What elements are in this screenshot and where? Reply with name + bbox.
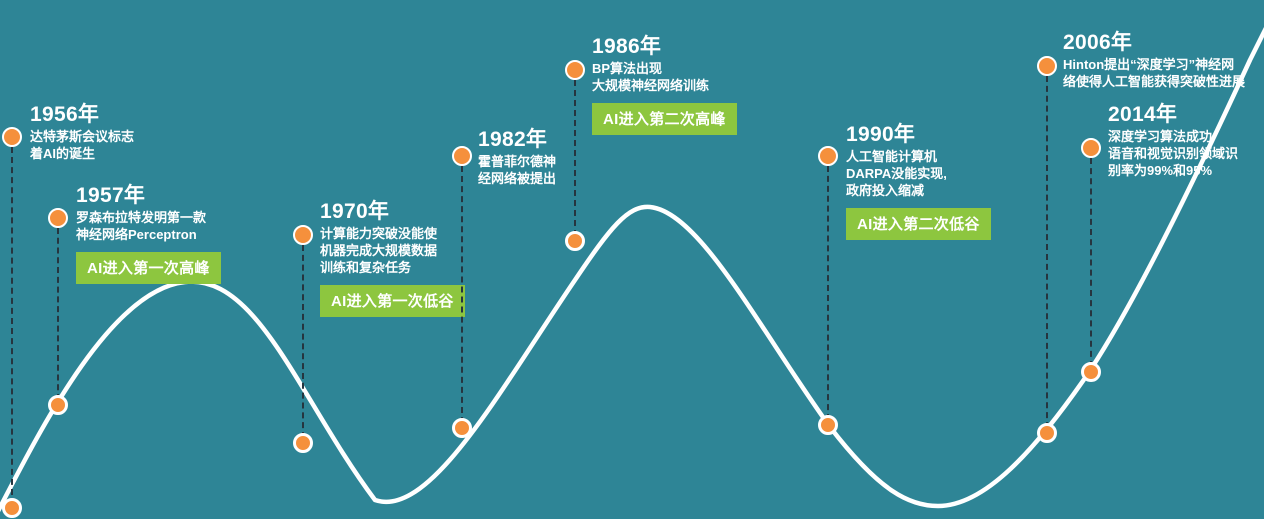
event-year: 1982年 bbox=[478, 128, 556, 152]
event-description-line: 罗森布拉特发明第一款 bbox=[76, 209, 221, 226]
label-marker-dot[interactable] bbox=[48, 208, 68, 228]
event-description-line: 大规模神经网络训练 bbox=[592, 77, 737, 94]
event-phase-badge: AI进入第二次高峰 bbox=[592, 103, 737, 135]
event-label-1957: 1957年罗森布拉特发明第一款神经网络PerceptronAI进入第一次高峰 bbox=[76, 184, 221, 284]
label-marker-dot[interactable] bbox=[565, 60, 585, 80]
event-phase-badge: AI进入第一次高峰 bbox=[76, 252, 221, 284]
event-year: 1970年 bbox=[320, 200, 465, 224]
event-description-line: 深度学习算法成功 bbox=[1108, 128, 1238, 145]
event-description-line: 训练和复杂任务 bbox=[320, 259, 465, 276]
label-marker-dot[interactable] bbox=[293, 225, 313, 245]
event-description-line: Hinton提出“深度学习”神经网 bbox=[1063, 56, 1245, 73]
event-connector-line bbox=[1090, 158, 1092, 367]
event-description-line: 计算能力突破没能使 bbox=[320, 225, 465, 242]
event-connector-line bbox=[461, 166, 463, 423]
label-marker-dot[interactable] bbox=[452, 146, 472, 166]
event-description-line: DARPA没能实现, bbox=[846, 165, 991, 182]
event-description: 人工智能计算机DARPA没能实现,政府投入缩减 bbox=[846, 148, 991, 200]
event-label-1956: 1956年达特茅斯会议标志着AI的诞生 bbox=[30, 103, 134, 162]
event-year: 2006年 bbox=[1063, 31, 1245, 55]
curve-marker-dot[interactable] bbox=[293, 433, 313, 453]
event-description-line: 机器完成大规模数据 bbox=[320, 242, 465, 259]
event-year: 1990年 bbox=[846, 123, 991, 147]
curve-marker-dot[interactable] bbox=[1081, 362, 1101, 382]
event-connector-line bbox=[57, 228, 59, 400]
event-label-1990: 1990年人工智能计算机DARPA没能实现,政府投入缩减AI进入第二次低谷 bbox=[846, 123, 991, 240]
event-description-line: 着AI的诞生 bbox=[30, 145, 134, 162]
event-description: Hinton提出“深度学习”神经网络使得人工智能获得突破性进展 bbox=[1063, 56, 1245, 91]
event-description-line: 政府投入缩减 bbox=[846, 182, 991, 199]
event-label-1970: 1970年计算能力突破没能使机器完成大规模数据训练和复杂任务AI进入第一次低谷 bbox=[320, 200, 465, 317]
label-marker-dot[interactable] bbox=[2, 127, 22, 147]
event-connector-line bbox=[1046, 76, 1048, 428]
event-description-line: 别率为99%和95% bbox=[1108, 162, 1238, 179]
event-connector-line bbox=[574, 80, 576, 236]
event-description-line: 达特茅斯会议标志 bbox=[30, 128, 134, 145]
curve-marker-dot[interactable] bbox=[452, 418, 472, 438]
event-description: 深度学习算法成功语音和视觉识别领域识别率为99%和95% bbox=[1108, 128, 1238, 180]
event-connector-line bbox=[302, 245, 304, 438]
event-year: 1957年 bbox=[76, 184, 221, 208]
label-marker-dot[interactable] bbox=[1081, 138, 1101, 158]
event-description-line: 神经网络Perceptron bbox=[76, 226, 221, 243]
event-year: 1956年 bbox=[30, 103, 134, 127]
event-description: 霍普菲尔德神经网络被提出 bbox=[478, 153, 556, 188]
event-connector-line bbox=[827, 166, 829, 420]
event-description: 计算能力突破没能使机器完成大规模数据训练和复杂任务 bbox=[320, 225, 465, 277]
event-label-2014: 2014年深度学习算法成功语音和视觉识别领域识别率为99%和95% bbox=[1108, 103, 1238, 179]
event-description: BP算法出现大规模神经网络训练 bbox=[592, 60, 737, 95]
event-label-2006: 2006年Hinton提出“深度学习”神经网络使得人工智能获得突破性进展 bbox=[1063, 31, 1245, 90]
event-description-line: 霍普菲尔德神 bbox=[478, 153, 556, 170]
event-year: 1986年 bbox=[592, 35, 737, 59]
curve-marker-dot[interactable] bbox=[48, 395, 68, 415]
event-phase-badge: AI进入第二次低谷 bbox=[846, 208, 991, 240]
event-description-line: BP算法出现 bbox=[592, 60, 737, 77]
infographic-canvas: 1956年达特茅斯会议标志着AI的诞生1957年罗森布拉特发明第一款神经网络Pe… bbox=[0, 0, 1264, 519]
curve-marker-dot[interactable] bbox=[2, 498, 22, 518]
event-description-line: 人工智能计算机 bbox=[846, 148, 991, 165]
event-description-line: 经网络被提出 bbox=[478, 170, 556, 187]
event-description-line: 语音和视觉识别领域识 bbox=[1108, 145, 1238, 162]
event-description-line: 络使得人工智能获得突破性进展 bbox=[1063, 73, 1245, 90]
label-marker-dot[interactable] bbox=[818, 146, 838, 166]
curve-marker-dot[interactable] bbox=[565, 231, 585, 251]
curve-marker-dot[interactable] bbox=[1037, 423, 1057, 443]
event-description: 罗森布拉特发明第一款神经网络Perceptron bbox=[76, 209, 221, 244]
label-marker-dot[interactable] bbox=[1037, 56, 1057, 76]
event-description: 达特茅斯会议标志着AI的诞生 bbox=[30, 128, 134, 163]
event-label-1986: 1986年BP算法出现大规模神经网络训练AI进入第二次高峰 bbox=[592, 35, 737, 135]
event-phase-badge: AI进入第一次低谷 bbox=[320, 285, 465, 317]
event-connector-line bbox=[11, 147, 13, 505]
event-year: 2014年 bbox=[1108, 103, 1238, 127]
event-label-1982: 1982年霍普菲尔德神经网络被提出 bbox=[478, 128, 556, 187]
curve-marker-dot[interactable] bbox=[818, 415, 838, 435]
